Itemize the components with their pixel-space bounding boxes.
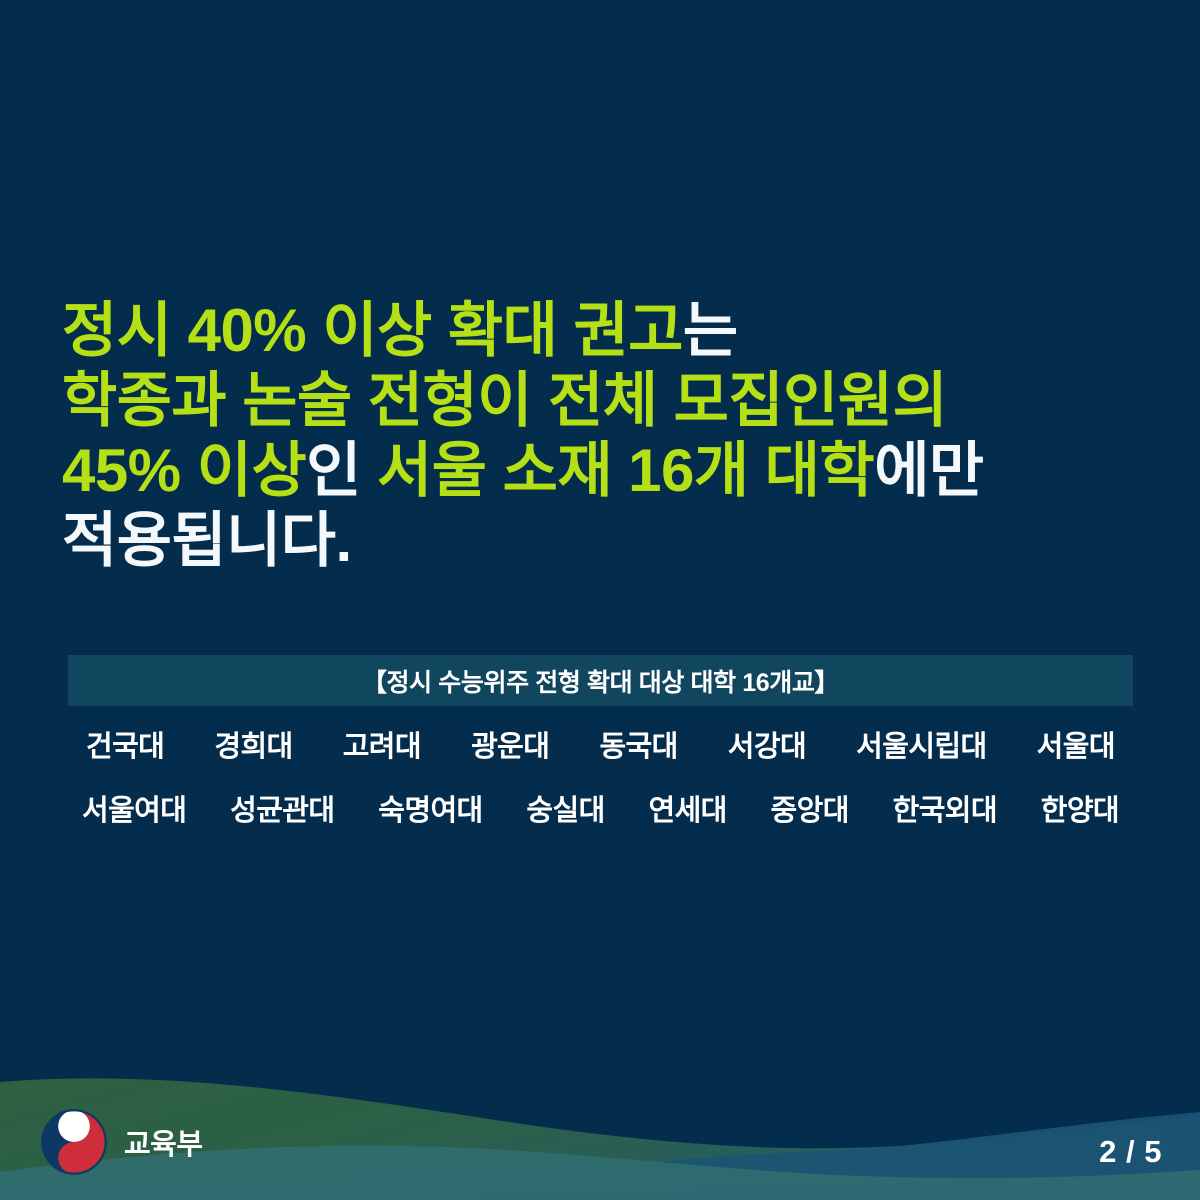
university-name: 한양대 xyxy=(1041,787,1119,829)
university-name: 연세대 xyxy=(648,787,726,829)
headline-line-1: 정시 40% 이상 확대 권고는 xyxy=(62,296,1062,366)
university-name: 고려대 xyxy=(343,723,421,765)
university-table-header: 【정시 수능위주 전형 확대 대상 대학 16개교】 xyxy=(68,655,1133,706)
university-name: 경희대 xyxy=(214,723,292,765)
university-name: 성균관대 xyxy=(230,787,334,829)
taegeuk-icon xyxy=(38,1106,110,1178)
university-name: 서울여대 xyxy=(82,787,186,829)
headline-line-3-segment-2: 인 xyxy=(306,437,377,504)
university-row: 건국대 경희대 고려대 광운대 동국대 서강대 서울시립대 서울대 xyxy=(68,712,1133,776)
university-name: 건국대 xyxy=(86,723,164,765)
university-name: 숙명여대 xyxy=(378,787,482,829)
headline-line-3-segment-4: 에만 xyxy=(874,437,983,504)
university-name: 서울대 xyxy=(1037,723,1115,765)
university-list: 건국대 경희대 고려대 광운대 동국대 서강대 서울시립대 서울대 서울여대 성… xyxy=(68,712,1133,840)
page-indicator: 2 / 5 xyxy=(1099,1134,1162,1170)
headline-line-2: 학종과 논술 전형이 전체 모집인원의 xyxy=(62,366,1062,436)
headline-line-2-segment-1: 학종과 논술 전형이 전체 모집인원의 xyxy=(62,367,947,434)
headline-line-1-segment-1: 정시 40% 이상 확대 권고 xyxy=(62,297,683,364)
university-name: 서강대 xyxy=(728,723,806,765)
university-name: 숭실대 xyxy=(526,787,604,829)
university-name: 한국외대 xyxy=(893,787,997,829)
headline-line-3: 45% 이상인 서울 소재 16개 대학에만 xyxy=(62,436,1062,506)
headline-line-1-segment-2: 는 xyxy=(683,297,738,364)
page-title: 정시 40% 이상 확대 권고는 학종과 논술 전형이 전체 모집인원의 45%… xyxy=(62,296,1062,576)
university-table-header-label: 【정시 수능위주 전형 확대 대상 대학 16개교】 xyxy=(362,663,839,699)
university-row: 서울여대 성균관대 숙명여대 숭실대 연세대 중앙대 한국외대 한양대 xyxy=(68,776,1133,840)
headline-line-3-segment-3: 서울 소재 16개 대학 xyxy=(377,437,874,504)
headline-line-4-segment-1: 적용됩니다. xyxy=(62,507,352,574)
university-name: 광운대 xyxy=(471,723,549,765)
headline-line-3-segment-1: 45% 이상 xyxy=(62,437,306,504)
university-name: 서울시립대 xyxy=(856,723,986,765)
university-name: 중앙대 xyxy=(771,787,849,829)
ministry-name-label: 교육부 xyxy=(124,1121,203,1163)
footer-brand: 교육부 xyxy=(38,1106,203,1178)
university-name: 동국대 xyxy=(599,723,677,765)
headline-line-4: 적용됩니다. xyxy=(62,506,1062,576)
card-news-slide: 정시 40% 이상 확대 권고는 학종과 논술 전형이 전체 모집인원의 45%… xyxy=(0,0,1200,1200)
